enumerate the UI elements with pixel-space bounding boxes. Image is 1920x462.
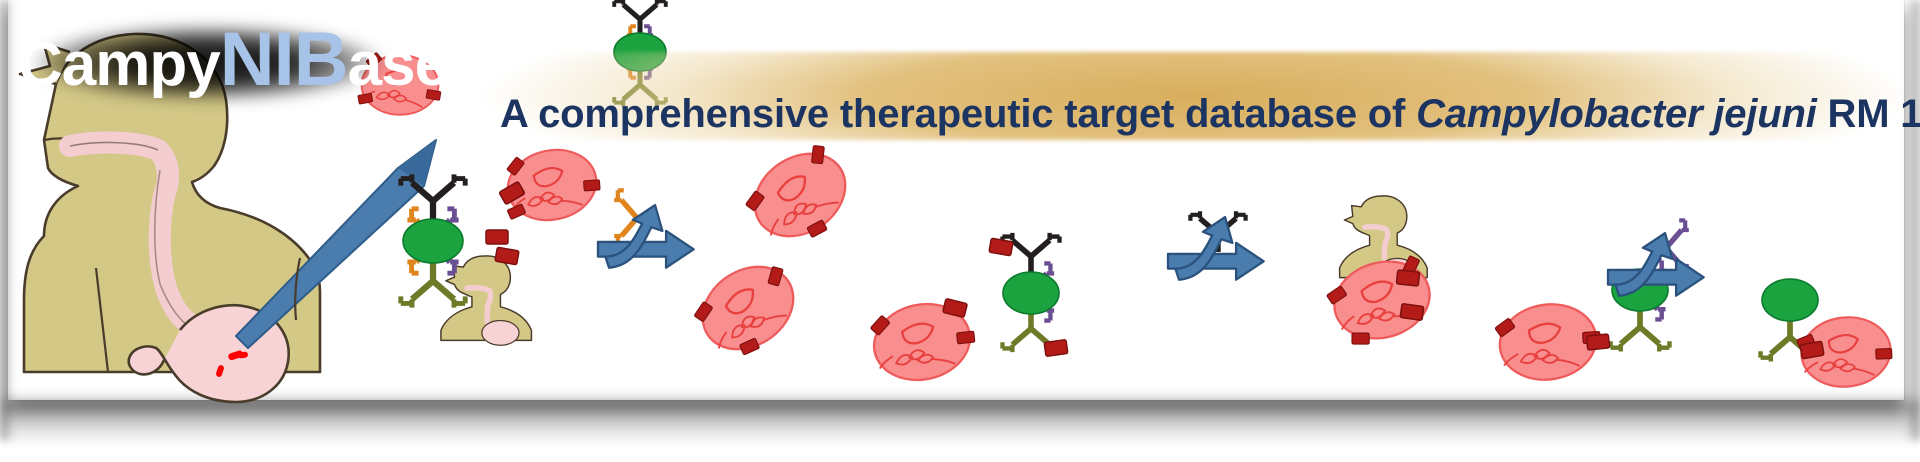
bind-nub-3c [1586,334,1609,350]
logo-part-campy: Campy [18,30,220,99]
tagline-suffix: RM 1221 [1817,92,1920,136]
antigen-node-stage-2 [1003,272,1059,314]
bind-nub-3a [1396,270,1419,286]
process-arrow-2 [1168,217,1264,280]
stage-1-complex [401,141,606,345]
site-logo[interactable]: CampyNIBase [18,8,398,118]
bind-nub-1b [495,247,519,265]
bind-nub-3b [1400,304,1424,321]
bind-nub-2c [1044,340,1068,357]
transition-2 [1168,211,1264,279]
bind-nub-2a [989,238,1013,256]
campynibase-banner: CampyNIBase A comprehensive therapeutic … [0,0,1920,462]
logo-part-nib: NIB [220,17,348,102]
stage-2-complex [686,137,1067,389]
bind-nub-4a [1800,341,1824,359]
tagline: A comprehensive therapeutic target datab… [500,88,1910,140]
transition-1 [598,190,694,267]
tagline-prefix: A comprehensive therapeutic target datab… [500,92,1416,136]
bacterium-stage-2a [737,137,864,260]
antigen-node-stage-4 [1762,279,1818,321]
logo-part-ase: ase [348,30,448,99]
antibody-black-top [614,0,666,36]
stage-4-complex [1761,279,1895,391]
process-arrow-1 [598,205,694,268]
logo-text: CampyNIBase [18,8,398,112]
antigen-node-stage-1 [403,219,463,263]
transition-3 [1608,220,1704,295]
bacterium-stage-2b [686,249,812,369]
bind-nub-1a [486,230,508,244]
tagline-species: Campylobacter jejuni [1416,92,1817,136]
